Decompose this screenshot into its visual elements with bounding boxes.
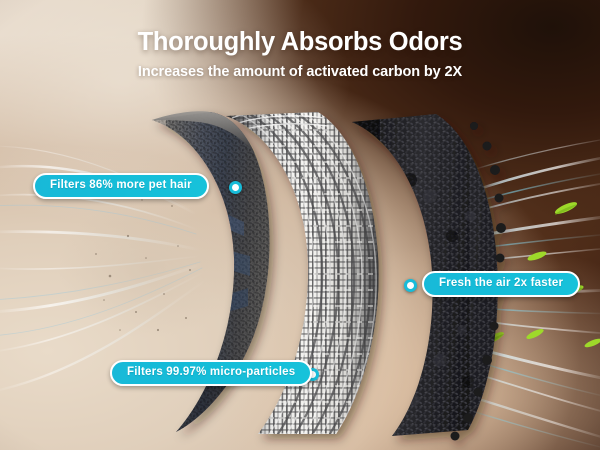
badge-micro-particles-label: Filters 99.97% micro-particles xyxy=(127,367,295,379)
dot-marker-pet-hair xyxy=(229,181,242,194)
product-feature-image: Thoroughly Absorbs Odors Increases the a… xyxy=(0,0,600,450)
badge-fresh-air[interactable]: Fresh the air 2x faster xyxy=(422,271,580,297)
badge-pet-hair[interactable]: Filters 86% more pet hair xyxy=(33,173,209,199)
badge-micro-particles[interactable]: Filters 99.97% micro-particles xyxy=(110,360,312,386)
page-subtitle: Increases the amount of activated carbon… xyxy=(0,64,600,80)
badge-pet-hair-label: Filters 86% more pet hair xyxy=(50,180,192,192)
badge-fresh-air-label: Fresh the air 2x faster xyxy=(439,278,563,290)
dot-marker-fresh-air xyxy=(404,279,417,292)
page-title: Thoroughly Absorbs Odors xyxy=(0,28,600,57)
